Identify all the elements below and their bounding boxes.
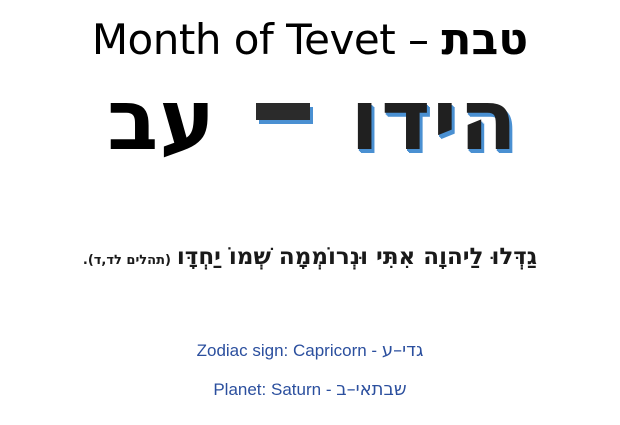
display-dash xyxy=(256,103,310,120)
planet-line: Planet: Saturn - שבתאי–ב xyxy=(0,379,620,400)
title-hebrew: טבת xyxy=(441,14,528,65)
zodiac-hebrew: גדי–ע xyxy=(382,340,424,361)
planet-label: Planet: Saturn xyxy=(213,380,321,399)
zodiac-line: Zodiac sign: Capricorn - גדי–ע xyxy=(0,340,620,361)
zodiac-label: Zodiac sign: Capricorn xyxy=(197,341,367,360)
poster-root: Month of Tevet – טבת הידועב גַדְּלוּ לַי… xyxy=(0,0,620,425)
title-english: Month of Tevet xyxy=(92,15,395,64)
page-title: Month of Tevet – טבת xyxy=(0,14,620,65)
verse-citation: (תהלים לד,ד). xyxy=(83,253,171,268)
display-hebrew-plain: עב xyxy=(107,78,216,162)
title-space-2 xyxy=(429,15,442,64)
display-word-inner: הידועב xyxy=(101,78,519,162)
title-dash: – xyxy=(408,15,429,64)
planet-hebrew: שבתאי–ב xyxy=(336,379,406,400)
display-word-row: הידועב xyxy=(0,78,620,198)
display-hebrew-shadowed: הידו xyxy=(350,78,519,162)
verse-row: גַדְּלוּ לַיהוָה אִתִּי וּנְרוֹמְמָה שְׁ… xyxy=(0,244,620,270)
verse-text: גַדְּלוּ לַיהוָה אִתִּי וּנְרוֹמְמָה שְׁ… xyxy=(177,244,537,270)
title-separator xyxy=(395,15,408,64)
